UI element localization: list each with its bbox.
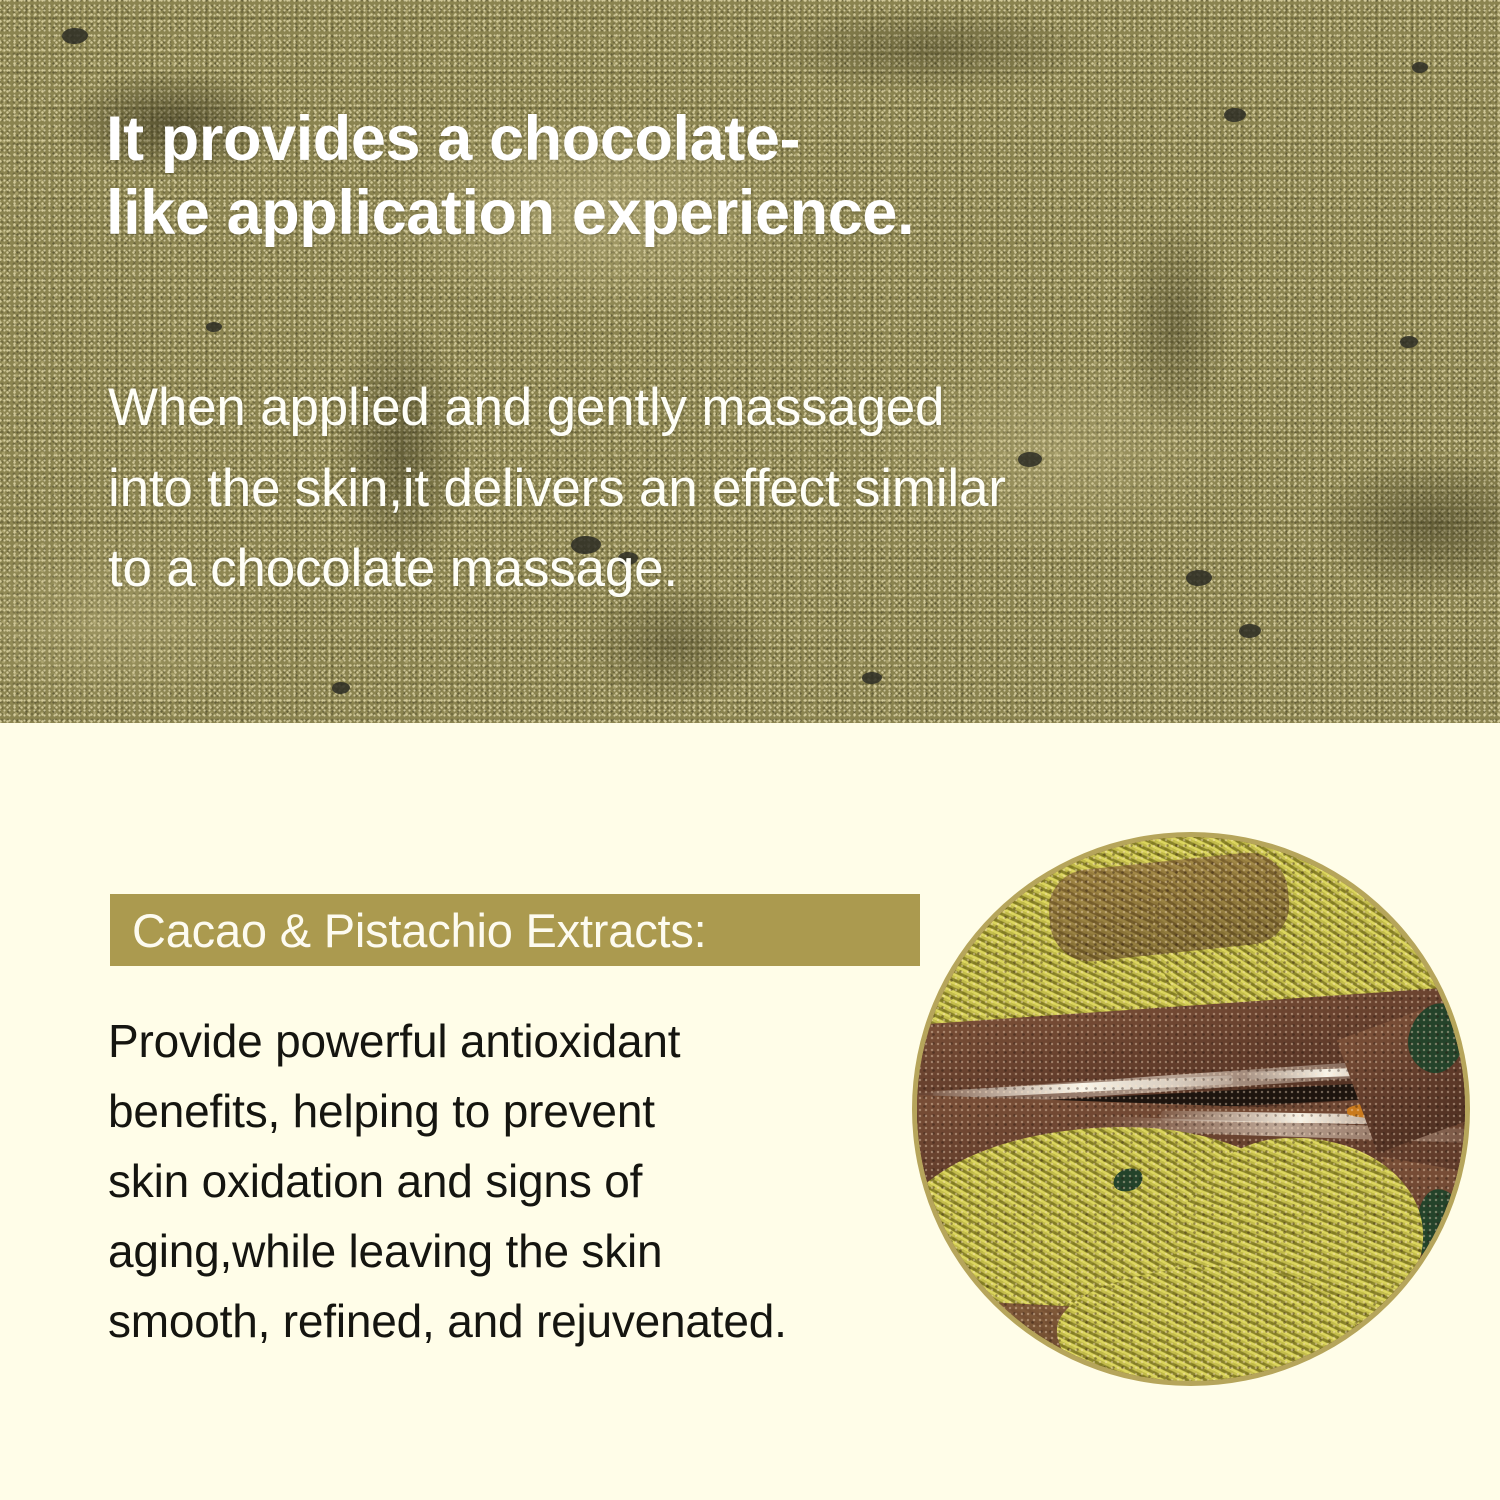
ingredients-section: Cacao & Pistachio Extracts: Provide powe… xyxy=(0,723,1500,1500)
page-title: It provides a chocolate- like applicatio… xyxy=(106,103,1346,250)
ingredient-heading-label: Cacao & Pistachio Extracts: xyxy=(110,907,707,954)
hero-description: When applied and gently massaged into th… xyxy=(108,368,1398,610)
photo-grain-overlay xyxy=(917,837,1465,1381)
hero-section: It provides a chocolate- like applicatio… xyxy=(0,0,1500,723)
product-infographic-page: It provides a chocolate- like applicatio… xyxy=(0,0,1500,1500)
ingredient-description: Provide powerful antioxidant benefits, h… xyxy=(108,1007,908,1357)
ingredient-heading-badge: Cacao & Pistachio Extracts: xyxy=(110,894,920,966)
pistachio-chocolate-bar-photo xyxy=(917,837,1465,1381)
product-photo-circle xyxy=(912,832,1470,1386)
